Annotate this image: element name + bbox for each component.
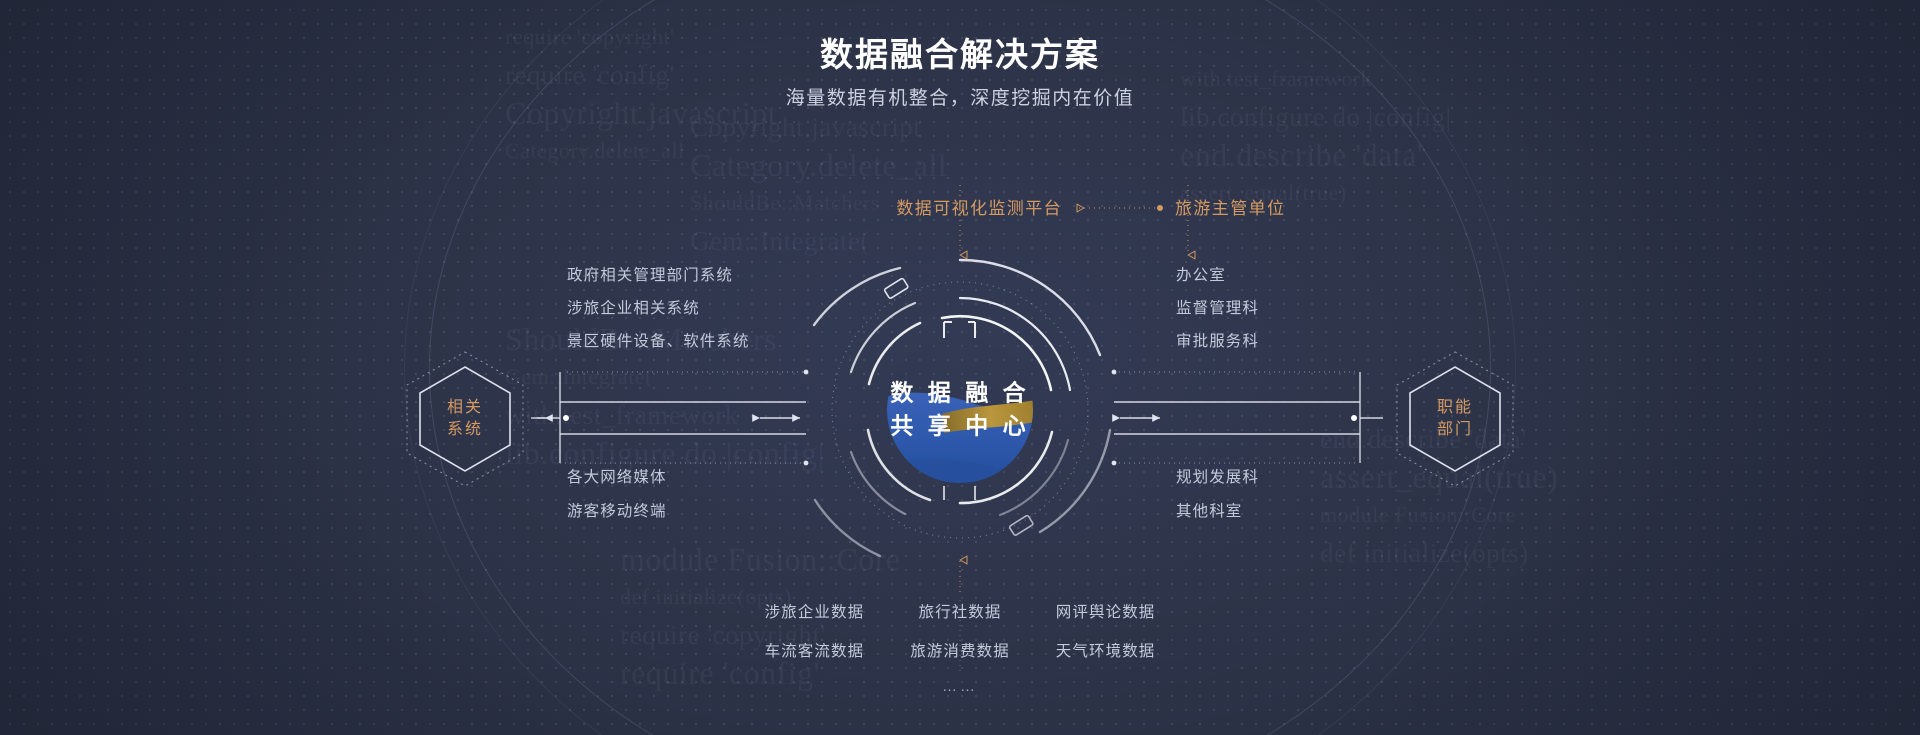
bottom-more-ellipsis: …… [942,678,978,695]
right-connectors [1112,370,1383,466]
bottom-data-grid: 涉旅企业数据旅行社数据网评舆论数据车流客流数据旅游消费数据天气环境数据 [765,600,1156,661]
left-hexagon-shape [407,352,523,486]
ring-node-chip-top-left [884,278,908,299]
right-hexagon-shape [1397,352,1513,486]
top-link-dot [1157,205,1163,211]
bottom-data-item-0[interactable]: 涉旅企业数据 [765,600,865,622]
page-title: 数据融合解决方案 [0,34,1920,75]
hero-banner: require 'copyright'require 'config'Copyr… [0,0,1920,735]
ring-node-chip-bottom-right [1009,515,1033,536]
header: 数据融合解决方案 海量数据有机整合，深度挖掘内在价值 [0,34,1920,112]
left-connectors [531,370,808,466]
bottom-data-item-3[interactable]: 车流客流数据 [765,639,865,661]
bottom-data-item-1[interactable]: 旅行社数据 [910,600,1010,622]
bottom-data-item-2[interactable]: 网评舆论数据 [1056,600,1156,622]
page-subtitle: 海量数据有机整合，深度挖掘内在价值 [0,87,1920,112]
bottom-data-item-4[interactable]: 旅游消费数据 [910,639,1010,661]
bottom-data-item-5[interactable]: 天气环境数据 [1056,639,1156,661]
top-vertical-connectors [960,185,1188,255]
